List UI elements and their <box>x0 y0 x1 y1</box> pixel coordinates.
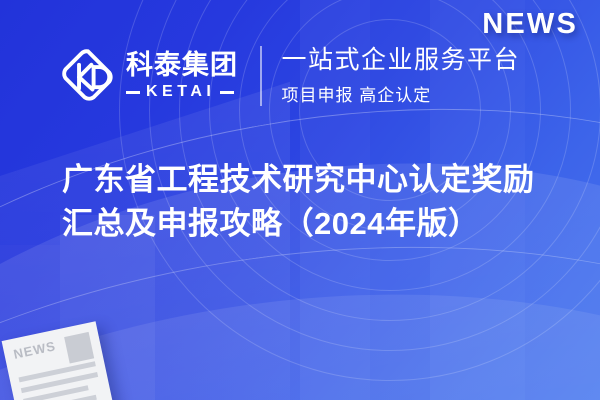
news-banner: NEWS 科泰集团 KETAI 一站式企 <box>0 0 600 400</box>
header-divider <box>260 46 262 106</box>
headline: 广东省工程技术研究中心认定奖励 汇总及申报攻略（2024年版） <box>62 158 562 246</box>
tagline-block: 一站式企业服务平台 项目申报 高企认定 <box>282 46 521 106</box>
brand-name-en: KETAI <box>146 83 215 101</box>
tagline-main: 一站式企业服务平台 <box>282 46 521 75</box>
news-label: NEWS <box>482 8 578 41</box>
headline-line-1: 广东省工程技术研究中心认定奖励 <box>62 158 562 202</box>
banner-header: 科泰集团 KETAI 一站式企业服务平台 项目申报 高企认定 <box>60 40 520 112</box>
brand-dash-left <box>126 91 140 94</box>
brand-text: 科泰集团 KETAI <box>126 51 238 101</box>
newspaper-icon: NEWS <box>2 321 119 400</box>
brand-name-cn: 科泰集团 <box>126 51 238 79</box>
ketai-kd-monogram-icon <box>60 48 116 104</box>
brand-name-en-row: KETAI <box>126 83 238 101</box>
newspaper-text-lines <box>19 361 103 400</box>
tagline-sub: 项目申报 高企认定 <box>282 81 521 106</box>
headline-line-2: 汇总及申报攻略（2024年版） <box>62 202 562 246</box>
newspaper-thumbnail <box>64 332 94 364</box>
brand-dash-right <box>220 91 234 94</box>
